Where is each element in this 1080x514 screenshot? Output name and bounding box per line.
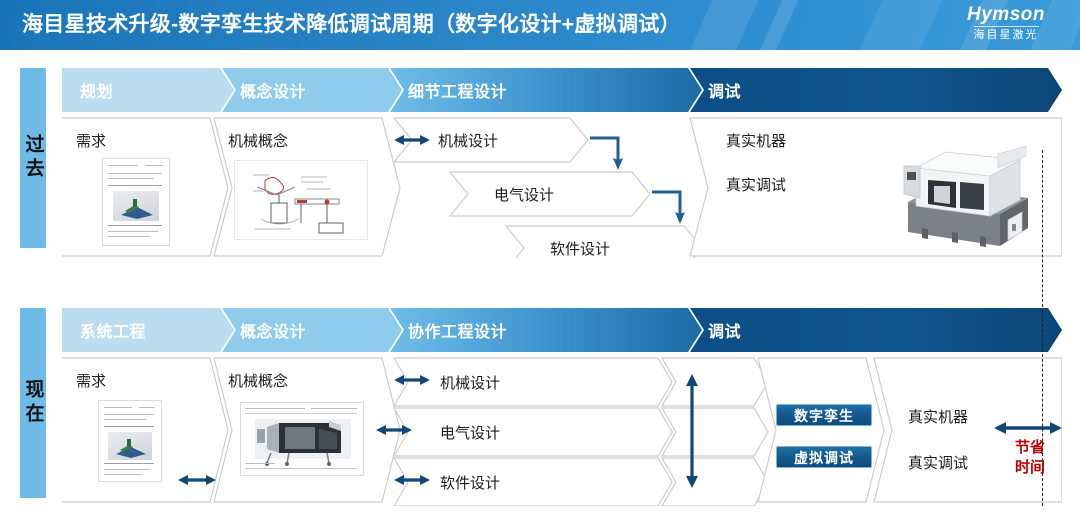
- now-design-label-0: 机械设计: [440, 372, 500, 393]
- past-phase-4[interactable]: 调试: [690, 68, 1062, 112]
- now-phase-4-label: 调试: [708, 318, 741, 342]
- page-title: 海目星技术升级-数字孪生技术降低调试周期（数字化设计+虚拟调试）: [22, 0, 681, 50]
- section-past-label: 过去: [20, 134, 47, 182]
- past-phase-4-label: 调试: [708, 78, 741, 102]
- logo-wordmark: Hymson: [946, 5, 1066, 25]
- requirement-document-thumbnail: [102, 158, 170, 246]
- now-body: 需求 机械概念 机械设计 电气设计 软件设计 数字孪生 虚拟调试 真实机器 真实…: [62, 356, 1062, 506]
- past-phase-1[interactable]: 规划: [62, 68, 234, 112]
- past-phase-banner: 规划 概念设计 细节工程设计 调试: [62, 68, 1062, 112]
- now-design-label-1: 电气设计: [440, 422, 500, 443]
- now-phase-1-label: 系统工程: [80, 318, 146, 342]
- past-design-label-1: 电气设计: [494, 184, 554, 205]
- now-body-outlines: [62, 356, 1062, 506]
- logo-chinese-name: 海目星激光: [974, 26, 1039, 42]
- requirement-document-thumbnail-now: [98, 400, 162, 482]
- past-design-label-0: 机械设计: [438, 130, 498, 151]
- section-now-label: 现在: [20, 379, 47, 427]
- header-sheen-3: [820, 0, 960, 50]
- badge-digital-twin[interactable]: 数字孪生: [776, 404, 872, 426]
- saving-time-label: 节省 时间: [1004, 438, 1056, 478]
- now-commissioning-label-1: 真实调试: [908, 452, 968, 473]
- past-body: 需求 机械概念 机械设计 电气设计 软件设计 真实机器 真实调试: [62, 116, 1062, 258]
- now-phase-3[interactable]: 协作工程设计: [390, 308, 702, 352]
- company-logo: Hymson 海目星激光: [946, 5, 1066, 47]
- now-phase-2-label: 概念设计: [240, 318, 306, 342]
- now-cell-label-0: 需求: [76, 370, 106, 391]
- section-past-vertical-tab: 过去: [20, 68, 46, 248]
- past-phase-3[interactable]: 细节工程设计: [390, 68, 702, 112]
- now-phase-2[interactable]: 概念设计: [222, 308, 402, 352]
- past-phase-2[interactable]: 概念设计: [222, 68, 402, 112]
- machine-cad-screenshot-thumbnail: [240, 402, 364, 476]
- section-past: 过去 规划 概念设计 细节工程设计 调试: [0, 60, 1080, 260]
- now-phase-4[interactable]: 调试: [690, 308, 1062, 352]
- now-phase-banner: 系统工程 概念设计 协作工程设计 调试: [62, 308, 1062, 352]
- saving-time-line-1: 节省: [1004, 438, 1056, 458]
- now-phase-3-label: 协作工程设计: [408, 318, 507, 342]
- saving-time-line-2: 时间: [1004, 458, 1056, 478]
- now-design-label-2: 软件设计: [440, 472, 500, 493]
- past-commissioning-label-0: 真实机器: [726, 130, 786, 151]
- now-cell-label-1: 机械概念: [228, 370, 288, 391]
- badge-virtual-commissioning[interactable]: 虚拟调试: [776, 446, 872, 468]
- past-phase-3-label: 细节工程设计: [408, 78, 507, 102]
- past-cell-label-1: 机械概念: [228, 130, 288, 151]
- reference-dashed-line: [1042, 150, 1043, 506]
- page-header: 海目星技术升级-数字孪生技术降低调试周期（数字化设计+虚拟调试） Hymson …: [0, 0, 1080, 50]
- past-commissioning-label-1: 真实调试: [726, 174, 786, 195]
- past-design-label-2: 软件设计: [550, 238, 610, 259]
- now-phase-1[interactable]: 系统工程: [62, 308, 234, 352]
- hand-sketch-thumbnail: [234, 160, 368, 240]
- past-phase-1-label: 规划: [80, 78, 113, 102]
- section-now-vertical-tab: 现在: [20, 308, 46, 498]
- past-cell-label-0: 需求: [76, 130, 106, 151]
- section-now: 现在 系统工程 概念设计 协作工程设计 调试: [0, 300, 1080, 508]
- past-phase-2-label: 概念设计: [240, 78, 306, 102]
- now-commissioning-label-0: 真实机器: [908, 406, 968, 427]
